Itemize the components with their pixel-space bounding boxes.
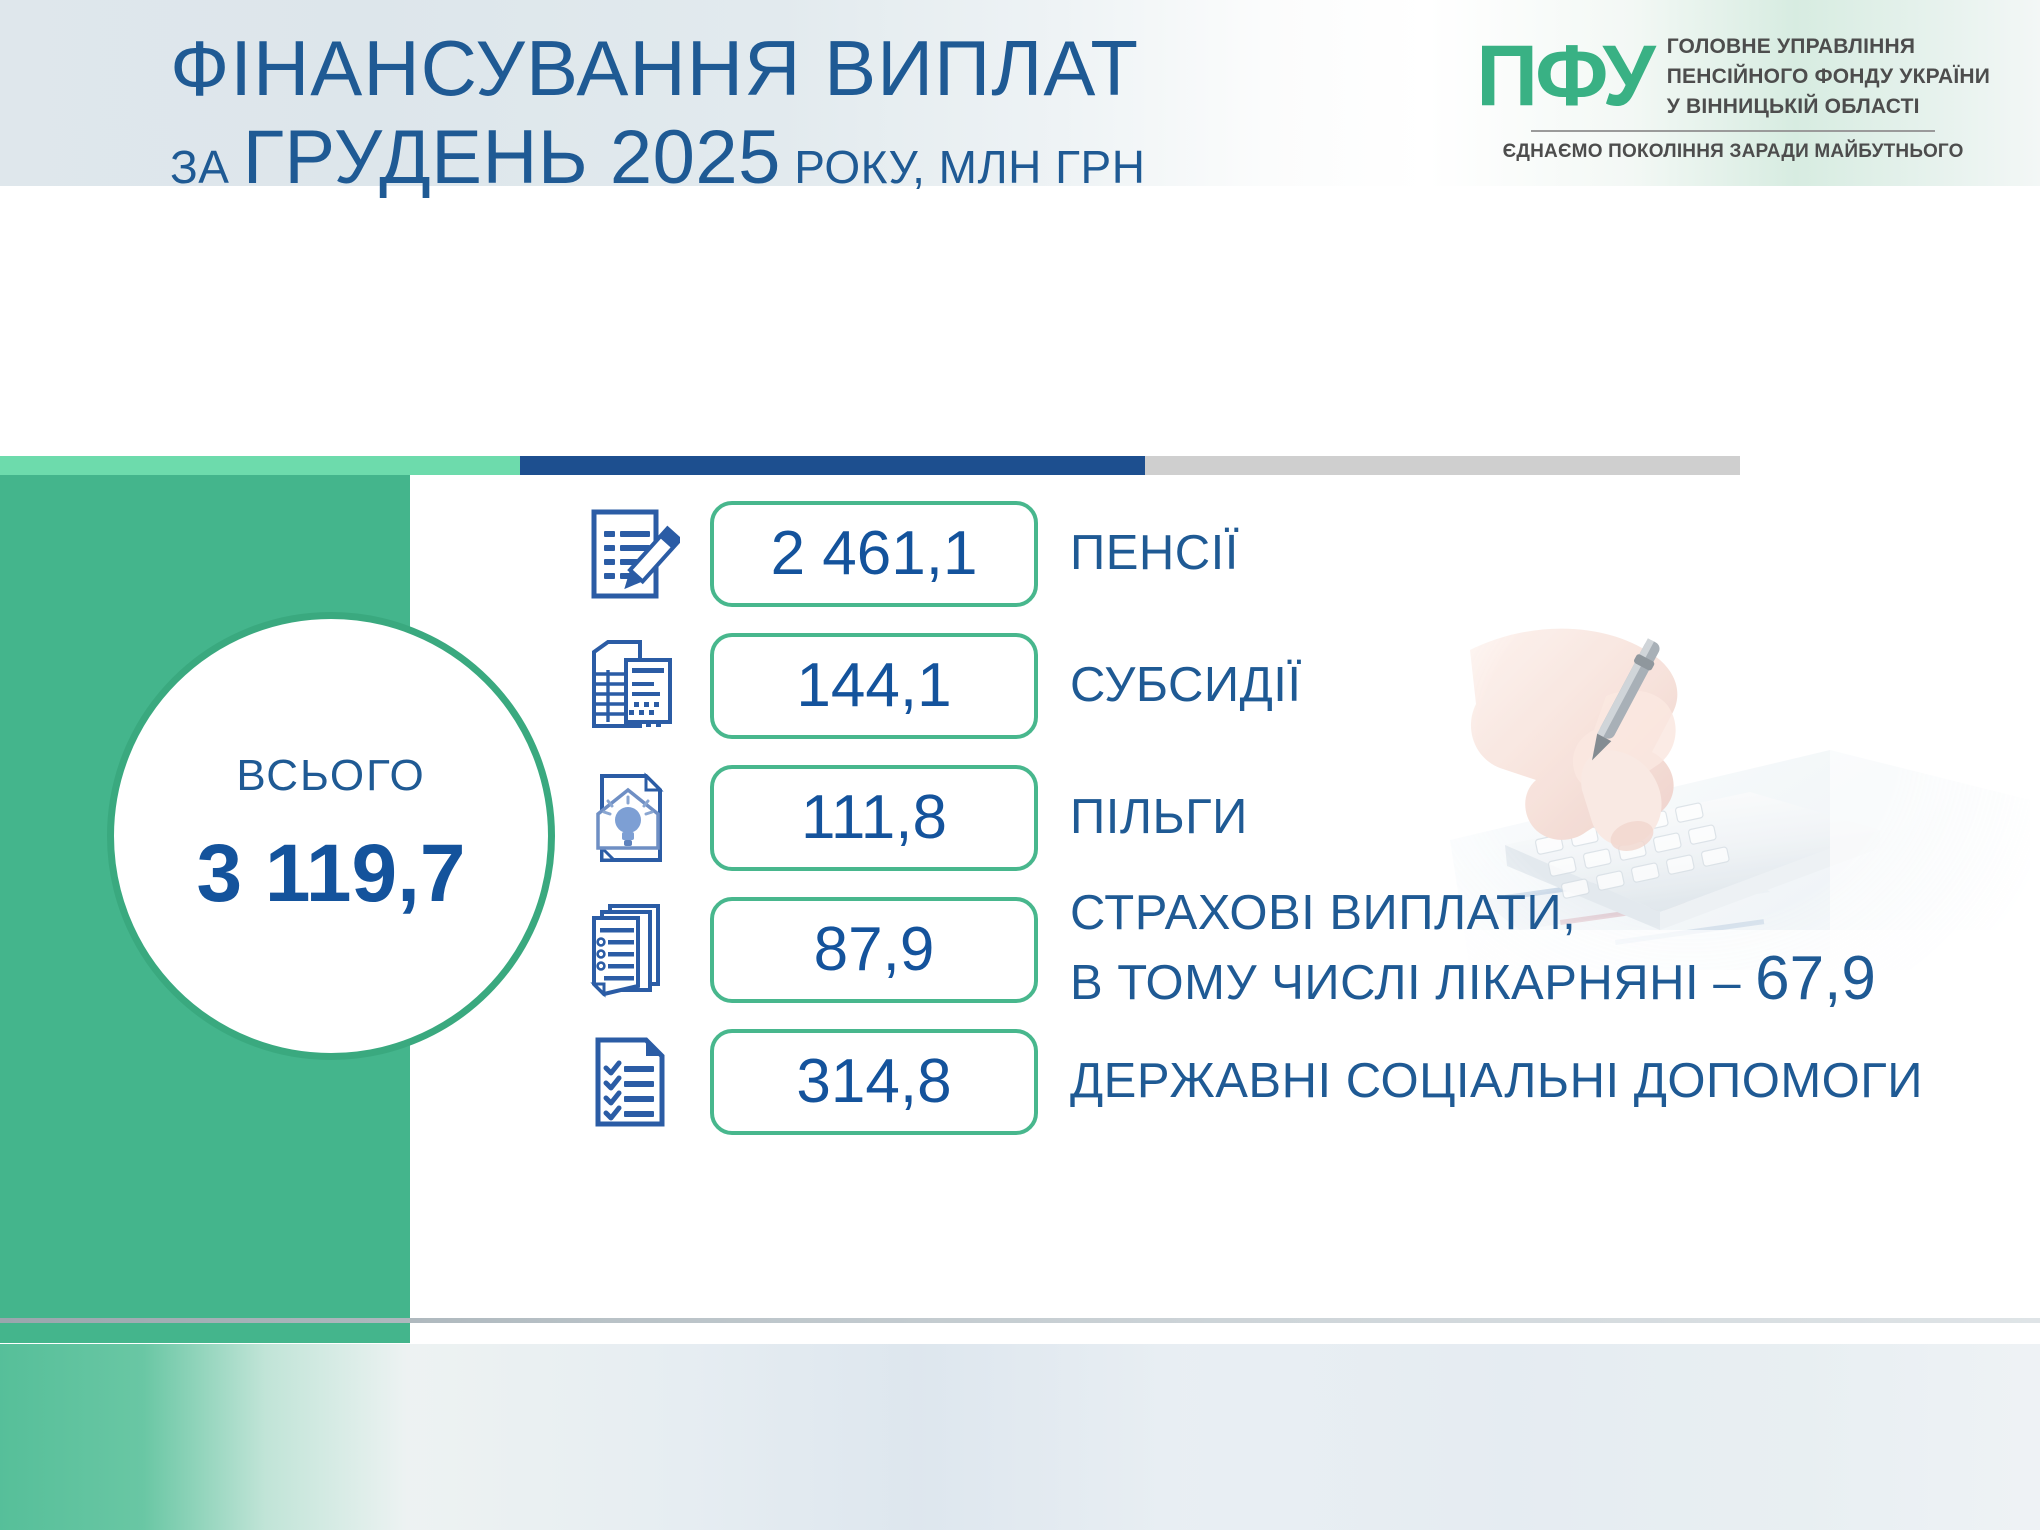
list-item: 2 461,1 ПЕНСІЇ [580,492,1923,616]
logo-slogan: ЄДНАЄМО ПОКОЛІННЯ ЗАРАДИ МАЙБУТНЬОГО [1503,141,1964,163]
list-item: 314,8 ДЕРЖАВНІ СОЦІАЛЬНІ ДОПОМОГИ [580,1020,1923,1144]
divider-segment-blue [520,456,1145,475]
value-text: 87,9 [814,919,935,981]
row-label: СУБСИДІЇ [1070,657,1302,715]
title-prefix: ЗА [170,141,229,193]
row-label: СТРАХОВІ ВИПЛАТИ, В ТОМУ ЧИСЛІ ЛІКАРНЯНІ… [1070,885,1876,1016]
house-lightbulb-icon [580,766,684,870]
title-main: ФІНАНСУВАННЯ ВИПЛАТ [170,28,1145,110]
infographic-canvas: ФІНАНСУВАННЯ ВИПЛАТ ЗА ГРУДЕНЬ 2025 РОКУ… [0,0,2040,1530]
logo-org-line2: ПЕНСІЙНОГО ФОНДУ УКРАЇНИ [1667,62,1990,92]
title-period: ГРУДЕНЬ 2025 [243,115,781,200]
value-text: 111,8 [801,787,947,849]
list-item: 111,8 ПІЛЬГИ [580,756,1923,880]
value-box: 144,1 [710,633,1038,739]
row-sub-value: 67,9 [1755,944,1876,1013]
row-label-line2-text: В ТОМУ ЧИСЛІ ЛІКАРНЯНІ – [1070,956,1755,1010]
divider-segment-empty [1740,456,2040,475]
total-circle: ВСЬОГО 3 119,7 [107,612,555,1060]
page-title: ФІНАНСУВАННЯ ВИПЛАТ ЗА ГРУДЕНЬ 2025 РОКУ… [170,28,1145,196]
row-label-line1: СТРАХОВІ ВИПЛАТИ, [1070,885,1876,943]
value-box: 2 461,1 [710,501,1038,607]
title-sub: ЗА ГРУДЕНЬ 2025 РОКУ, МЛН ГРН [170,120,1145,196]
logo-org-line1: ГОЛОВНЕ УПРАВЛІННЯ [1667,32,1990,62]
logo-divider [1531,130,1935,132]
value-box: 111,8 [710,765,1038,871]
logo-org-name: ГОЛОВНЕ УПРАВЛІННЯ ПЕНСІЙНОГО ФОНДУ УКРА… [1667,32,1990,121]
pfu-logo: ПФУ ГОЛОВНЕ УПРАВЛІННЯ ПЕНСІЙНОГО ФОНДУ … [1476,32,1990,163]
value-box: 87,9 [710,897,1038,1003]
list-item: 87,9 СТРАХОВІ ВИПЛАТИ, В ТОМУ ЧИСЛІ ЛІКА… [580,888,1923,1012]
value-text: 314,8 [796,1051,951,1113]
list-item: 144,1 СУБСИДІЇ [580,624,1923,748]
payments-list: 2 461,1 ПЕНСІЇ [580,492,1923,1144]
total-value: 3 119,7 [196,827,465,921]
title-suffix: РОКУ, МЛН ГРН [794,141,1145,193]
row-label: ДЕРЖАВНІ СОЦІАЛЬНІ ДОПОМОГИ [1070,1053,1923,1111]
logo-top-row: ПФУ ГОЛОВНЕ УПРАВЛІННЯ ПЕНСІЙНОГО ФОНДУ … [1476,32,1990,121]
divider-segment-gray [1145,456,1740,475]
logo-org-line3: У ВІННИЦЬКІЙ ОБЛАСТІ [1667,92,1990,122]
bottom-divider [0,1318,2040,1323]
divider-segment-green [0,456,520,475]
document-stack-icon [580,898,684,1002]
accent-divider [0,456,2040,475]
row-label-line2: В ТОМУ ЧИСЛІ ЛІКАРНЯНІ – 67,9 [1070,942,1876,1015]
pfu-logo-mark: ПФУ [1476,36,1652,118]
value-text: 144,1 [796,655,951,717]
checklist-icon [580,1030,684,1134]
document-pencil-icon [580,502,684,606]
value-box: 314,8 [710,1029,1038,1135]
building-chart-icon [580,634,684,738]
row-label: ПІЛЬГИ [1070,789,1248,847]
row-label: ПЕНСІЇ [1070,525,1239,583]
total-label: ВСЬОГО [236,751,425,801]
value-text: 2 461,1 [771,523,978,585]
